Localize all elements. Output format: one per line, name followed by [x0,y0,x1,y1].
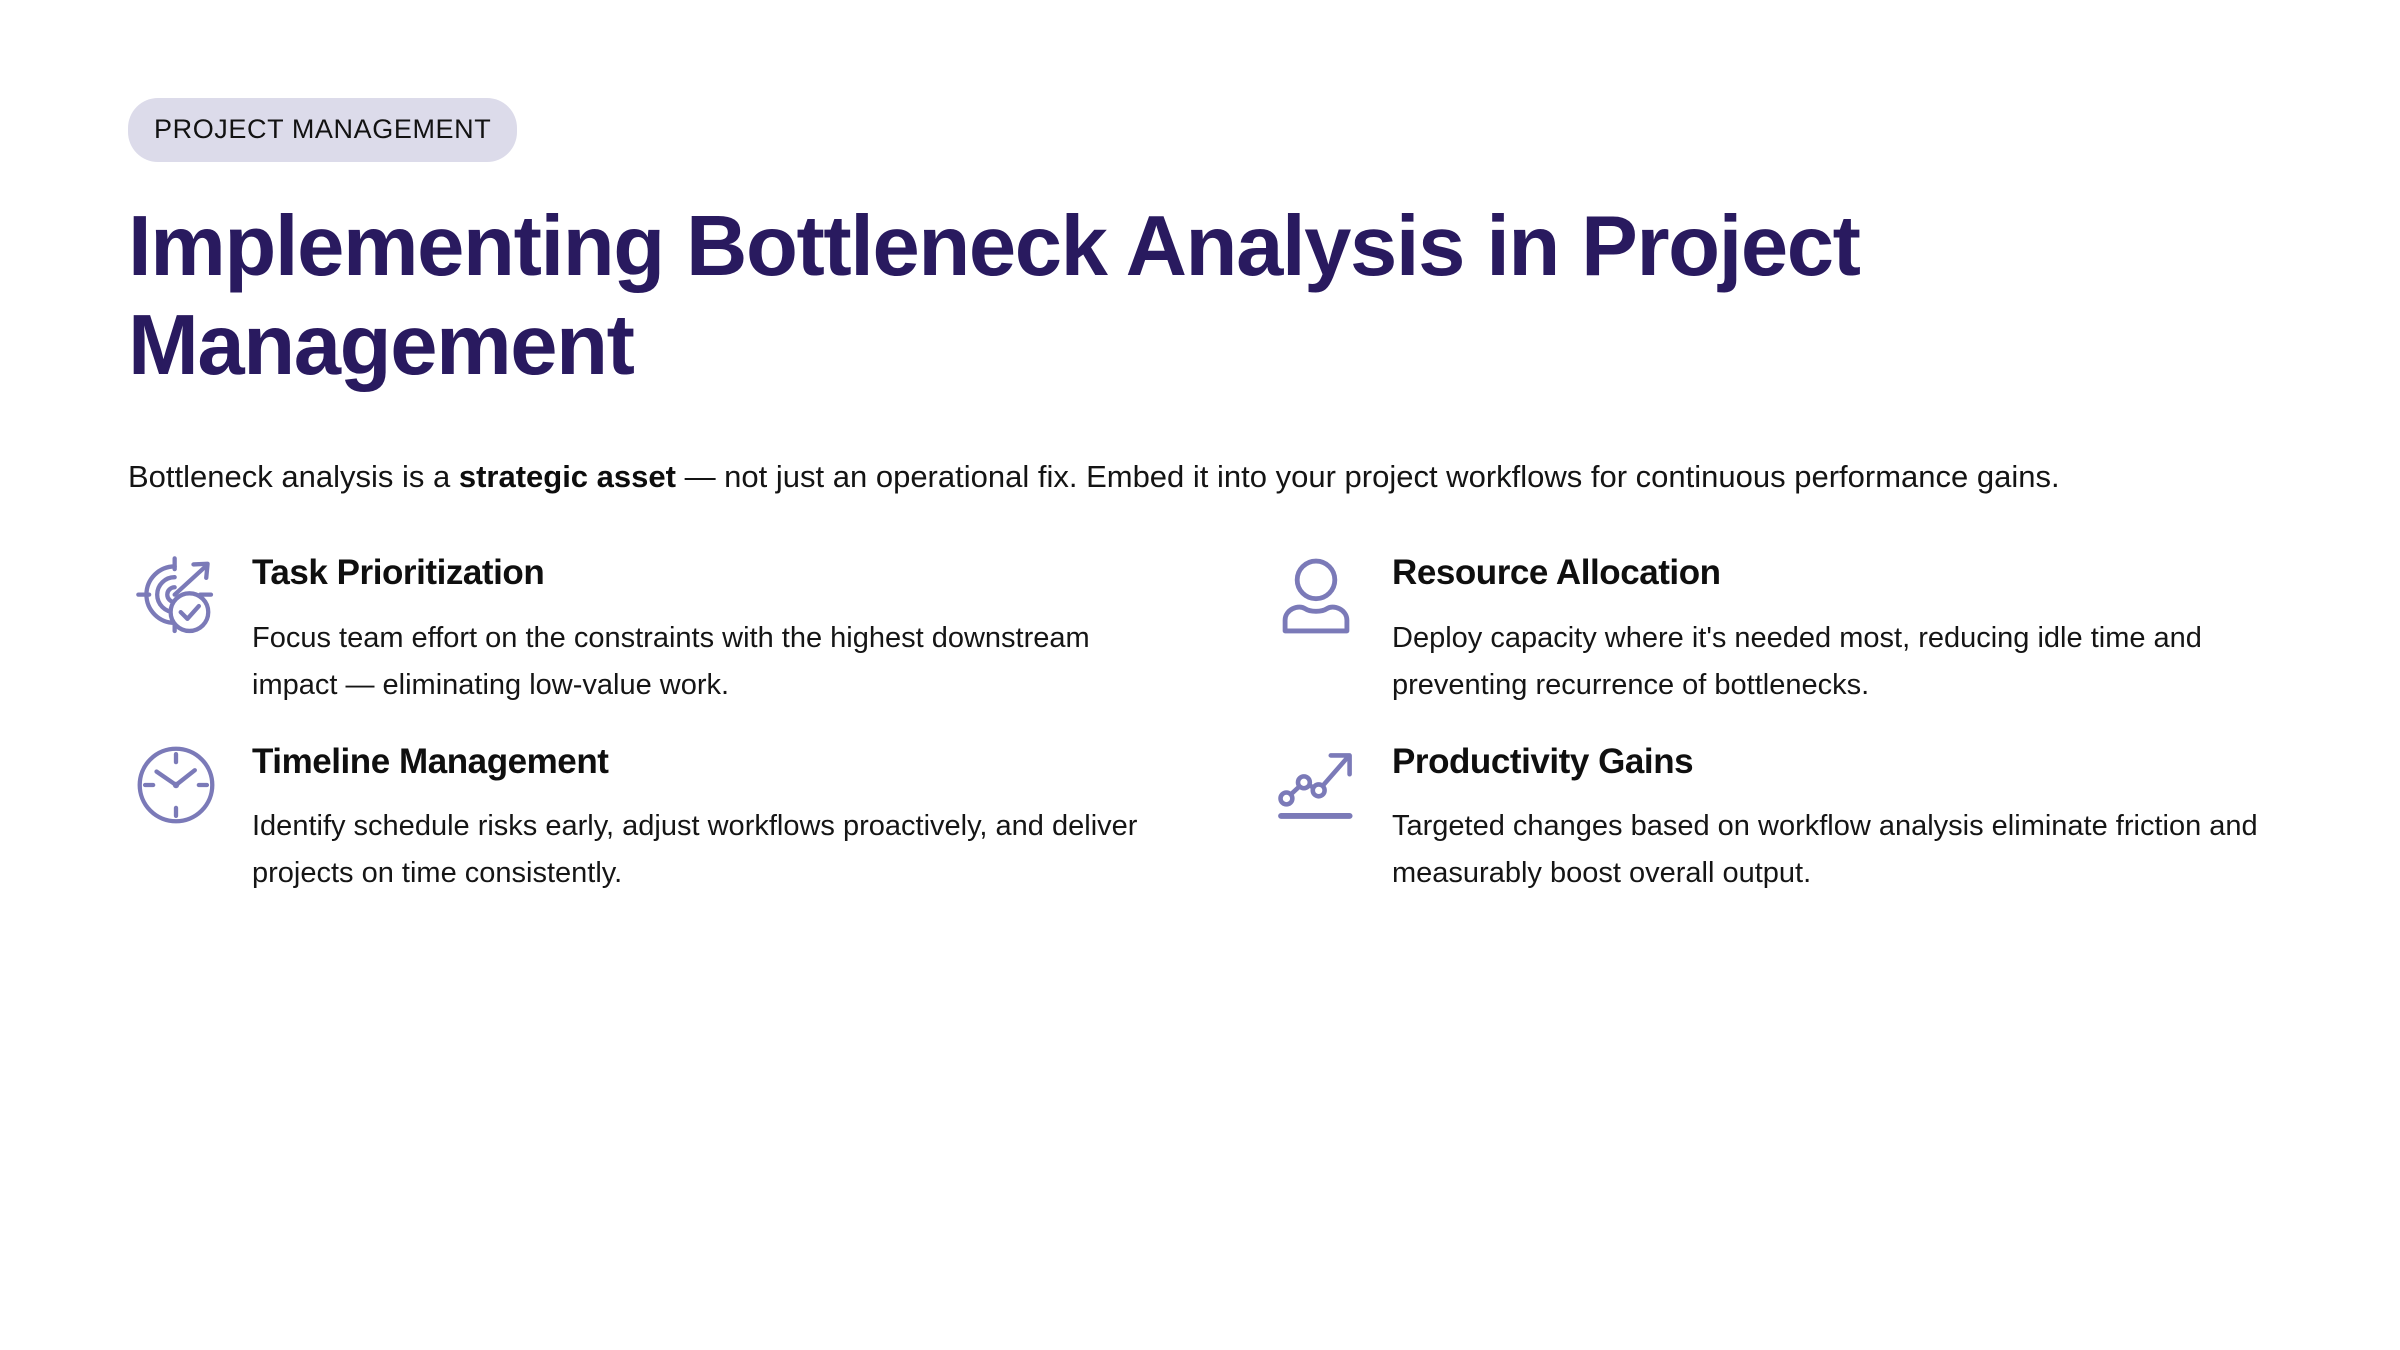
feature-description: Focus team effort on the constraints wit… [252,615,1182,709]
feature-text-block: Productivity Gains Targeted changes base… [1392,731,2368,897]
feature-item-timeline-management: Timeline Management Identify schedule ri… [128,731,1228,897]
intro-paragraph: Bottleneck analysis is a strategic asset… [128,452,2238,502]
feature-title: Task Prioritization [252,554,1228,593]
page-title: Implementing Bottleneck Analysis in Proj… [128,198,2188,395]
intro-text-after-bold: — not just an operational fix. Embed it … [676,459,2060,494]
feature-text-block: Resource Allocation Deploy capacity wher… [1392,542,2368,708]
feature-description: Identify schedule risks early, adjust wo… [252,803,1182,897]
feature-description: Targeted changes based on workflow analy… [1392,803,2322,897]
intro-text-before-bold: Bottleneck analysis is a [128,459,459,494]
feature-description: Deploy capacity where it's needed most, … [1392,615,2322,709]
feature-text-block: Timeline Management Identify schedule ri… [252,731,1228,897]
feature-title: Resource Allocation [1392,554,2368,593]
feature-title: Timeline Management [252,743,1228,782]
clock-icon [128,737,224,833]
person-user-icon [1268,548,1364,644]
intro-bold-phrase: strategic asset [459,459,676,494]
category-badge: PROJECT MANAGEMENT [128,98,517,162]
feature-title: Productivity Gains [1392,743,2368,782]
feature-text-block: Task Prioritization Focus team effort on… [252,542,1228,708]
feature-item-productivity-gains: Productivity Gains Targeted changes base… [1268,731,2368,897]
feature-item-task-prioritization: Task Prioritization Focus team effort on… [128,542,1228,708]
slide-root: PROJECT MANAGEMENT Implementing Bottlene… [0,0,2400,1350]
trending-up-chart-icon [1268,737,1364,833]
target-arrow-check-icon [128,548,224,644]
feature-grid: Task Prioritization Focus team effort on… [128,542,2272,897]
feature-item-resource-allocation: Resource Allocation Deploy capacity wher… [1268,542,2368,708]
